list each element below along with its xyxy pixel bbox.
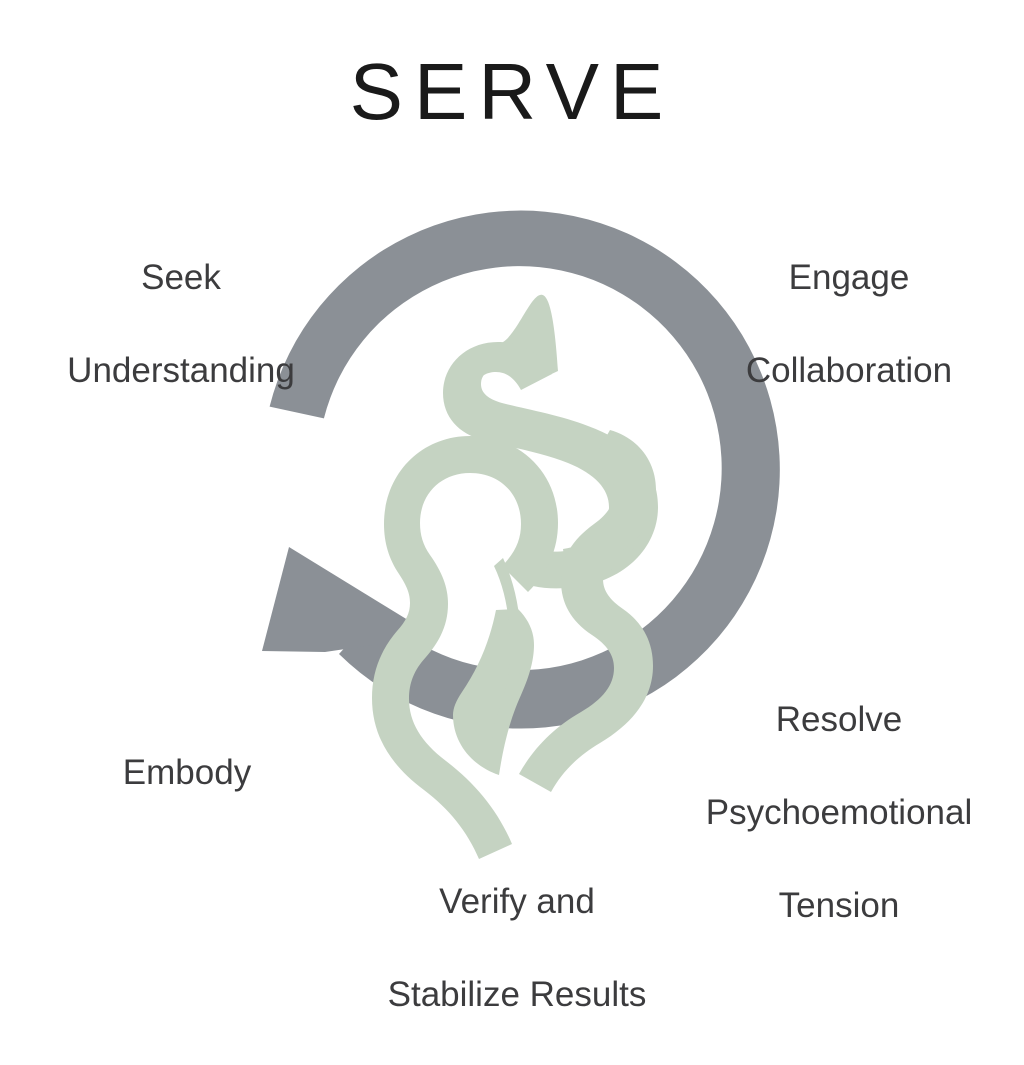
stage-label-resolve-line-1: Resolve bbox=[668, 697, 1010, 744]
center-emblem-icon bbox=[372, 295, 658, 859]
stage-label-seek-line-2: Understanding bbox=[16, 348, 346, 395]
stage-label-seek: Seek Understanding bbox=[16, 208, 346, 441]
stage-label-engage-line-1: Engage bbox=[690, 255, 1008, 302]
stage-label-resolve: Resolve Psychoemotional Tension bbox=[668, 650, 1010, 976]
stage-label-engage: Engage Collaboration bbox=[690, 208, 1008, 441]
stage-label-resolve-line-2: Psychoemotional bbox=[668, 790, 1010, 837]
diagram-canvas: SERVE Seek Understanding Eng bbox=[0, 0, 1024, 1024]
stage-label-embody-line-1: Embody bbox=[52, 750, 322, 797]
stage-label-verify-line-1: Verify and bbox=[324, 879, 710, 926]
stage-label-verify: Verify and Stabilize Results bbox=[324, 832, 710, 1065]
stage-label-resolve-line-3: Tension bbox=[668, 883, 1010, 930]
stage-label-verify-line-2: Stabilize Results bbox=[324, 972, 710, 1019]
stage-label-seek-line-1: Seek bbox=[16, 255, 346, 302]
stage-label-engage-line-2: Collaboration bbox=[690, 348, 1008, 395]
stage-label-embody: Embody bbox=[52, 703, 322, 843]
